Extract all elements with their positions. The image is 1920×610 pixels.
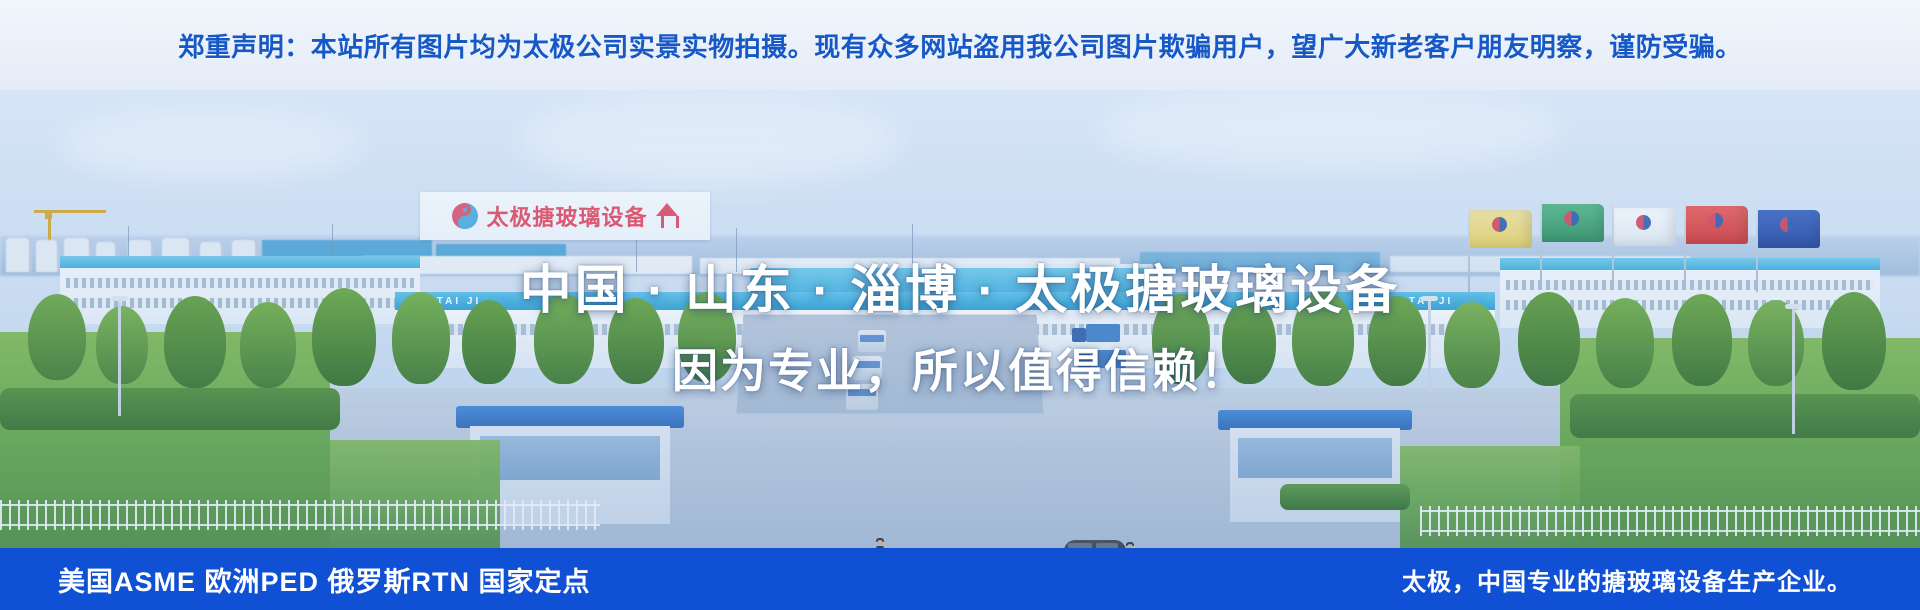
- hedge: [0, 388, 340, 430]
- yin-yang-icon: [452, 203, 478, 229]
- lamp-post: [118, 296, 121, 416]
- building-sign-text: 太极搪玻璃设备: [486, 200, 647, 232]
- tree: [462, 300, 516, 384]
- right-wing-roof: [1500, 258, 1880, 270]
- arrow-up-icon: [656, 203, 678, 229]
- left-wing-windows: [66, 278, 414, 288]
- left-wing-roof: [60, 256, 420, 268]
- storage-tank: [36, 240, 60, 272]
- cloud-1: [520, 94, 900, 184]
- tree: [678, 292, 736, 382]
- tree: [96, 306, 148, 384]
- tree: [1444, 302, 1500, 388]
- bus: [852, 356, 882, 380]
- bottom-blue-bar: 美国ASME 欧洲PED 俄罗斯RTN 国家定点 太极，中国专业的搪玻璃设备生产…: [0, 548, 1920, 610]
- tree: [1518, 292, 1580, 386]
- truck: [1078, 350, 1128, 370]
- tree: [1822, 292, 1886, 390]
- tree: [1152, 294, 1210, 384]
- hedge: [1280, 484, 1410, 510]
- cloud-3: [60, 108, 360, 178]
- notice-strip: 郑重声明：本站所有图片均为太极公司实景实物拍摄。现有众多网站盗用我公司图片欺骗用…: [0, 0, 1920, 90]
- lawn-median: [330, 440, 500, 550]
- perimeter-fence-right: [1420, 506, 1920, 536]
- hedge: [1570, 394, 1920, 438]
- tagline-text: 太极，中国专业的搪玻璃设备生产企业。: [1402, 562, 1852, 597]
- tree: [1748, 300, 1804, 386]
- storage-tank: [6, 238, 32, 272]
- tree: [28, 294, 86, 380]
- tree: [1672, 294, 1732, 386]
- central-driveway: [736, 315, 1043, 414]
- tree: [1292, 290, 1354, 386]
- banner-stage: 郑重声明：本站所有图片均为太极公司实景实物拍摄。现有众多网站盗用我公司图片欺骗用…: [0, 0, 1920, 610]
- factory-photo: TAI JI TAI JI 太极搪玻璃设备: [0, 88, 1920, 550]
- tree: [392, 292, 450, 384]
- tree: [1368, 296, 1426, 386]
- tree: [1596, 298, 1654, 388]
- lamp-post: [1428, 296, 1431, 392]
- tree: [608, 298, 664, 384]
- tree: [1222, 300, 1276, 384]
- cloud-2: [1100, 88, 1560, 168]
- truck: [1072, 324, 1122, 344]
- right-wing-windows: [1506, 280, 1874, 290]
- notice-text: 郑重声明：本站所有图片均为太极公司实景实物拍摄。现有众多网站盗用我公司图片欺骗用…: [178, 27, 1742, 64]
- bus: [846, 384, 878, 410]
- perimeter-fence-left: [0, 500, 600, 530]
- lamp-post: [1792, 304, 1795, 434]
- tree: [240, 302, 296, 388]
- certifications-text: 美国ASME 欧洲PED 俄罗斯RTN 国家定点: [58, 560, 591, 599]
- tree: [164, 296, 226, 388]
- building-signboard: 太极搪玻璃设备: [420, 192, 710, 240]
- tree: [534, 294, 594, 384]
- tree: [312, 288, 376, 386]
- bus: [858, 330, 886, 352]
